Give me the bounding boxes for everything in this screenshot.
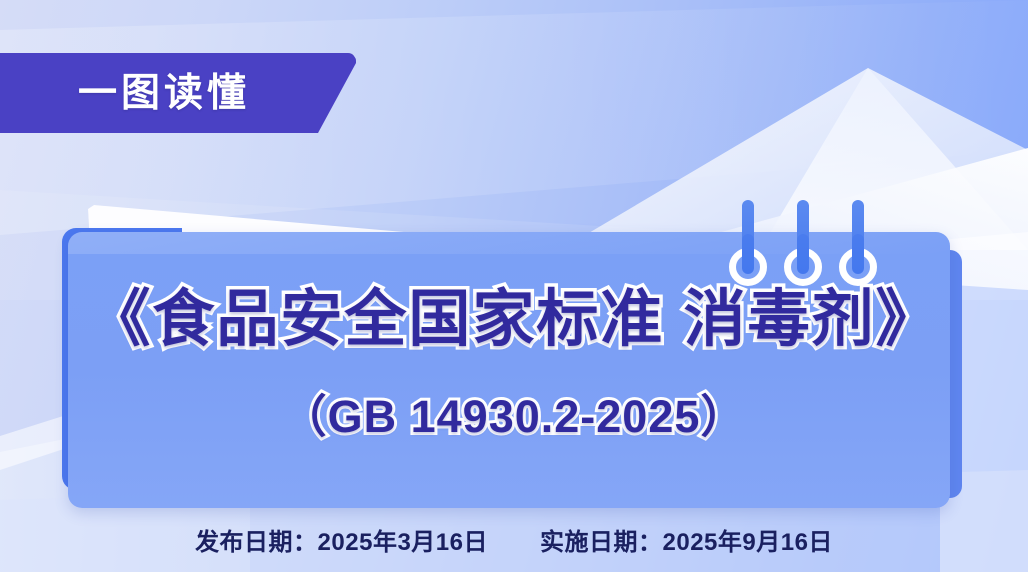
publish-date: 发布日期：2025年3月16日 xyxy=(195,522,488,557)
binding-ring-bar-front-icon xyxy=(797,234,809,274)
date-row: 发布日期：2025年3月16日 实施日期：2025年9月16日 xyxy=(0,522,1028,557)
poster-root: 一图读懂 《食品安全国家标准 消毒剂》 （GB 14930.2-2025） 发布… xyxy=(0,0,1028,572)
binding-ring-3 xyxy=(839,200,877,286)
tag-banner: 一图读懂 xyxy=(0,53,356,133)
binding-ring-bar-front-icon xyxy=(742,234,754,274)
binding-ring-2 xyxy=(784,200,822,286)
tag-banner-label: 一图读懂 xyxy=(78,74,250,113)
binding-ring-1 xyxy=(729,200,767,286)
binding-ring-bar-front-icon xyxy=(852,234,864,274)
effective-date: 实施日期：2025年9月16日 xyxy=(540,522,833,557)
